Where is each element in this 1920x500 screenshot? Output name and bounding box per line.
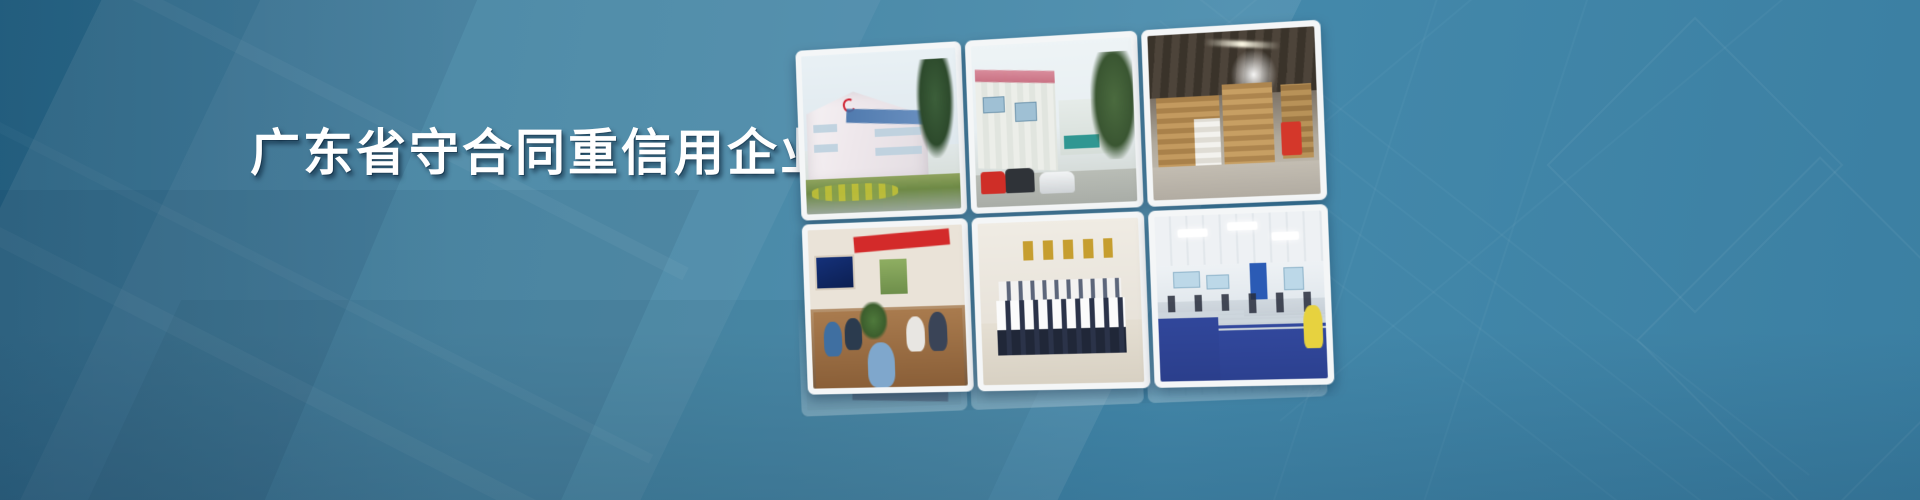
photo-warehouse	[1147, 26, 1320, 200]
photo-tile-plant-yard[interactable]	[965, 31, 1144, 214]
photo-collage	[795, 17, 1373, 406]
photo-tile-team[interactable]	[971, 211, 1150, 391]
photo-plant-yard	[971, 37, 1137, 208]
promo-banner: 广东省守合同重信用企业	[0, 0, 1920, 500]
photo-tile-warehouse[interactable]	[1141, 20, 1327, 207]
photo-team	[978, 218, 1145, 386]
banner-headline: 广东省守合同重信用企业	[250, 126, 833, 181]
photo-factory-exterior	[801, 47, 961, 214]
photo-tile-factory-exterior[interactable]	[795, 41, 967, 221]
photo-office	[1154, 211, 1328, 382]
forklift	[1281, 121, 1303, 155]
presentation-screen	[815, 254, 856, 290]
photo-meeting-room	[808, 224, 968, 388]
photo-tile-office[interactable]	[1148, 204, 1335, 388]
wall-sign-gold-text	[1023, 238, 1114, 261]
photo-tile-meeting-room[interactable]	[802, 218, 974, 395]
